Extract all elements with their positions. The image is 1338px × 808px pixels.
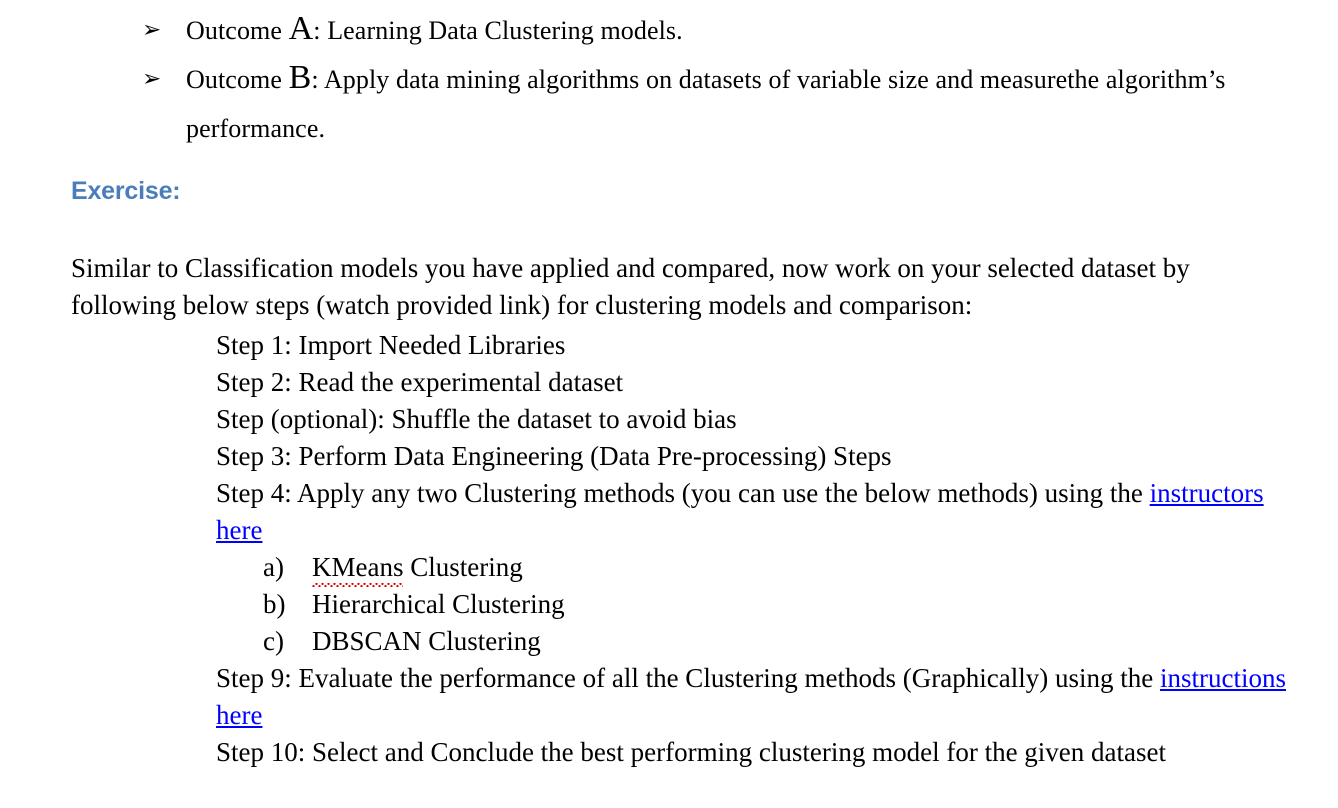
exercise-intro-paragraph: Similar to Classification models you hav… — [71, 250, 1286, 324]
clustering-methods-list: a)KMeans Clustering b)Hierarchical Clust… — [216, 549, 1291, 660]
step-1: Step 1: Import Needed Libraries — [216, 327, 1291, 364]
outcome-b-letter: B — [289, 59, 312, 96]
arrow-bullet-icon: ➢ — [142, 55, 161, 104]
outcome-b-text: : Apply data mining algorithms on datase… — [186, 65, 1225, 143]
method-marker-c: c) — [263, 623, 284, 660]
method-label-hierarchical: Hierarchical Clustering — [312, 589, 565, 619]
steps-block: Step 1: Import Needed Libraries Step 2: … — [216, 327, 1291, 771]
step-optional: Step (optional): Shuffle the dataset to … — [216, 401, 1291, 438]
step-4-text: Step 4: Apply any two Clustering methods… — [216, 478, 1150, 508]
arrow-bullet-icon: ➢ — [142, 6, 161, 55]
exercise-heading: Exercise: — [71, 176, 180, 206]
outcome-a-text: : Learning Data Clustering models. — [313, 16, 682, 45]
method-item-hierarchical: b)Hierarchical Clustering — [216, 586, 1291, 623]
method-label-dbscan: DBSCAN Clustering — [312, 626, 541, 656]
outcome-item-b: ➢ Outcome B: Apply data mining algorithm… — [0, 55, 1338, 153]
document-page: ➢ Outcome A: Learning Data Clustering mo… — [0, 0, 1338, 808]
outcome-list: ➢ Outcome A: Learning Data Clustering mo… — [0, 6, 1338, 153]
outcome-a-prefix: Outcome — [186, 16, 289, 45]
outcome-b-prefix: Outcome — [186, 65, 289, 94]
step-9: Step 9: Evaluate the performance of all … — [216, 660, 1291, 734]
method-marker-a: a) — [263, 549, 284, 586]
step-4: Step 4: Apply any two Clustering methods… — [216, 475, 1291, 549]
step-9-text: Step 9: Evaluate the performance of all … — [216, 663, 1160, 693]
method-item-dbscan: c)DBSCAN Clustering — [216, 623, 1291, 660]
method-label-kmeans: Clustering — [403, 552, 522, 582]
outcome-item-a: ➢ Outcome A: Learning Data Clustering mo… — [0, 6, 1338, 55]
step-2: Step 2: Read the experimental dataset — [216, 364, 1291, 401]
step-10: Step 10: Select and Conclude the best pe… — [216, 734, 1291, 771]
method-item-kmeans: a)KMeans Clustering — [216, 549, 1291, 586]
misspelled-word-kmeans: KMeans — [312, 549, 403, 586]
outcome-a-letter: A — [289, 10, 314, 47]
step-3: Step 3: Perform Data Engineering (Data P… — [216, 438, 1291, 475]
method-marker-b: b) — [263, 586, 286, 623]
